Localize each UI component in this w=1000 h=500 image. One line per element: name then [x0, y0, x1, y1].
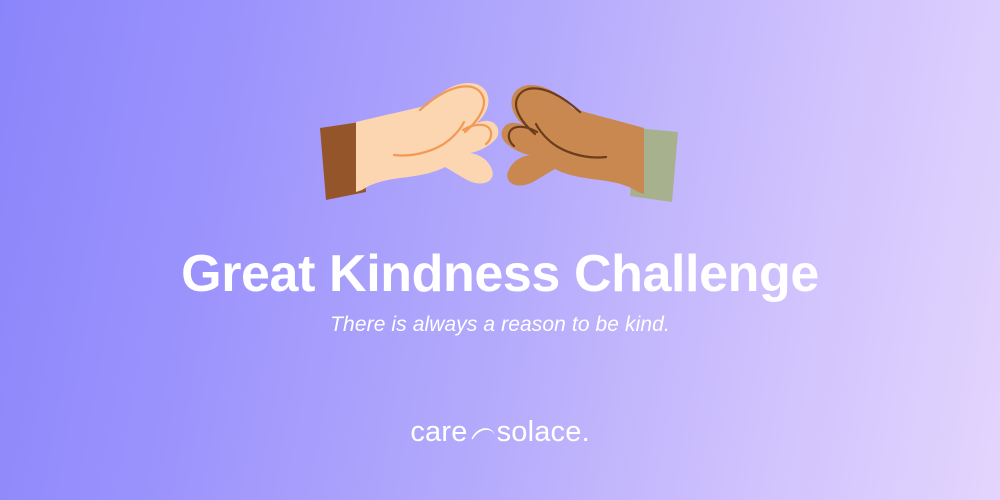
page-title: Great Kindness Challenge	[0, 246, 1000, 302]
hands-forming-heart-illustration	[300, 70, 700, 230]
logo-word-care: care	[410, 418, 467, 447]
page-subtitle: There is always a reason to be kind.	[0, 312, 1000, 338]
great-kindness-challenge-banner: Great Kindness Challenge There is always…	[0, 0, 1000, 500]
right-hand	[502, 85, 644, 194]
left-hand	[356, 83, 498, 192]
swoosh-icon	[470, 425, 496, 445]
logo-word-solace: solace	[497, 418, 582, 447]
care-solace-logo: care solace .	[0, 418, 1000, 447]
logo-period: .	[582, 418, 590, 447]
